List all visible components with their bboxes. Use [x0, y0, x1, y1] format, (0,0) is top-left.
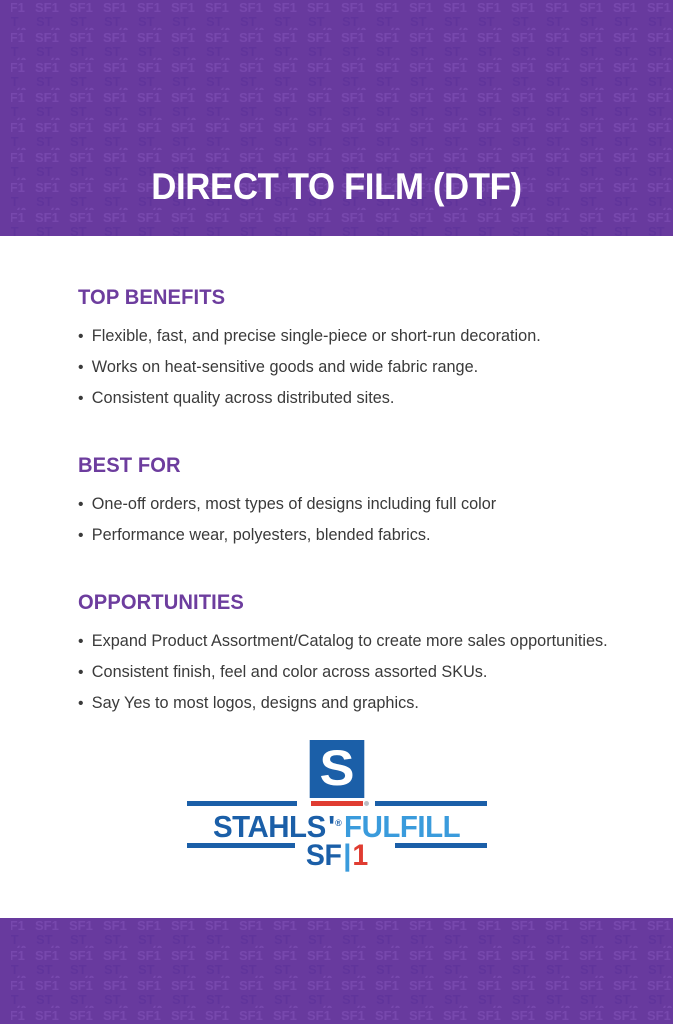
section-opportunities: OPPORTUNITIES Expand Product Assortment/… — [78, 591, 638, 719]
opportunities-list: Expand Product Assortment/Catalog to cre… — [78, 626, 638, 719]
list-item: Works on heat-sensitive goods and wide f… — [78, 352, 630, 383]
section-top-benefits: TOP BENEFITS Flexible, fast, and precise… — [78, 286, 638, 414]
section-heading: BEST FOR — [78, 454, 616, 478]
header-left-edge-strip — [0, 0, 11, 236]
best-for-list: One-off orders, most types of designs in… — [78, 489, 638, 551]
footer-left-edge-strip — [0, 918, 11, 1024]
list-item: Performance wear, polyesters, blended fa… — [78, 520, 630, 551]
logo-wordmark: STAHLS'®FULFILL — [187, 807, 487, 839]
brand-logo: S STAHLS'®FULFILL SF|1 — [0, 735, 673, 890]
logo-sf1-lockup: SF|1 — [187, 839, 487, 873]
list-item: Say Yes to most logos, designs and graph… — [78, 688, 630, 719]
page-title: DIRECT TO FILM (DTF) — [20, 166, 653, 208]
logo-upper-rule — [187, 801, 487, 806]
section-best-for: BEST FOR One-off orders, most types of d… — [78, 454, 638, 551]
registered-trademark-icon: ® — [335, 818, 341, 828]
list-item: One-off orders, most types of designs in… — [78, 489, 630, 520]
footer-band — [0, 918, 673, 1024]
list-item: Flexible, fast, and precise single-piece… — [78, 321, 630, 352]
logo-one-text: 1 — [352, 839, 367, 873]
section-heading: TOP BENEFITS — [78, 286, 616, 310]
benefit-list: Flexible, fast, and precise single-piece… — [78, 321, 638, 414]
content-column: TOP BENEFITS Flexible, fast, and precise… — [78, 236, 638, 719]
logo-sf-text: SF — [306, 839, 341, 873]
list-item: Consistent quality across distributed si… — [78, 383, 630, 414]
logo-rule-dot-icon — [364, 801, 369, 806]
stahls-s-mark-icon: S — [309, 740, 364, 798]
logo-divider-icon: | — [342, 839, 352, 873]
footer-pattern-texture — [0, 918, 673, 1024]
list-item: Consistent finish, feel and color across… — [78, 657, 630, 688]
list-item: Expand Product Assortment/Catalog to cre… — [78, 626, 630, 657]
logo-rule-right-segment — [375, 801, 487, 806]
logo-rule-left-segment — [187, 801, 297, 806]
section-heading: OPPORTUNITIES — [78, 591, 616, 615]
